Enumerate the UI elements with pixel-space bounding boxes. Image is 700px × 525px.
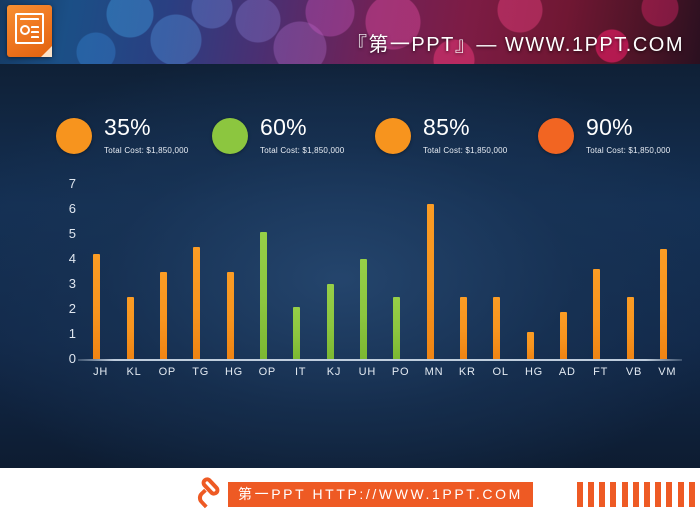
legend-cost: Total Cost: $1,850,000 [586,146,670,155]
y-axis-tick: 5 [58,228,76,240]
y-axis-tick: 7 [58,178,76,190]
footer-stripe [633,482,639,507]
x-axis-label: HG [219,366,249,378]
bar [493,297,500,360]
bar [593,269,600,359]
x-axis-label: IT [286,366,316,378]
legend: 35% Total Cost: $1,850,000 60% Total Cos… [0,114,700,170]
bar [193,247,200,360]
footer-stripe [689,482,695,507]
footer-text: 第一PPT HTTP://WWW.1PPT.COM [228,482,533,507]
x-axis-label: OP [252,366,282,378]
bar [560,312,567,360]
legend-color-dot [212,118,248,154]
x-axis-label: PO [386,366,416,378]
plot-area [80,184,680,359]
footer-stripe [588,482,594,507]
footer-bar: 第一PPT HTTP://WWW.1PPT.COM [0,468,700,525]
x-axis-label: UH [352,366,382,378]
footer-stripes [577,482,700,507]
x-axis-label: KR [452,366,482,378]
x-axis-label: TG [186,366,216,378]
footer-stripe [666,482,672,507]
bar [293,307,300,360]
bar [660,249,667,359]
x-axis-label: AD [552,366,582,378]
bar [460,297,467,360]
footer-stripe [610,482,616,507]
paperclip-icon [196,480,224,508]
legend-cost: Total Cost: $1,850,000 [104,146,188,155]
x-axis-label: KL [119,366,149,378]
x-axis-label: FT [586,366,616,378]
bar [360,259,367,359]
footer-stripe [655,482,661,507]
x-axis-baseline [78,359,682,361]
bar [393,297,400,360]
bar [127,297,134,360]
footer-stripe [599,482,605,507]
bar [427,204,434,359]
legend-color-dot [538,118,574,154]
y-axis-tick: 4 [58,253,76,265]
y-axis-tick: 0 [58,353,76,365]
footer-stripe [622,482,628,507]
x-axis-label: OP [152,366,182,378]
y-axis-tick: 3 [58,278,76,290]
y-axis-tick: 1 [58,328,76,340]
powerpoint-icon [7,5,52,57]
bar [93,254,100,359]
x-axis-label: HG [519,366,549,378]
header-title: 『第一PPT』— WWW.1PPT.COM [347,28,684,57]
bar [627,297,634,360]
powerpoint-icon-document [15,13,44,44]
bar [260,232,267,360]
x-axis-label: MN [419,366,449,378]
y-axis-tick: 6 [58,203,76,215]
x-axis-label: JH [86,366,116,378]
x-axis-labels: JHKLOPTGHGOPITKJUHPOMNKROLHGADFTVBVM [80,366,680,386]
bar-chart: 76543210 JHKLOPTGHGOPITKJUHPOMNKROLHGADF… [0,184,700,414]
legend-cost: Total Cost: $1,850,000 [423,146,507,155]
legend-percent: 85% [423,114,470,140]
legend-cost: Total Cost: $1,850,000 [260,146,344,155]
pie-glyph [20,25,30,35]
legend-percent: 90% [586,114,633,140]
footer-stripe [577,482,583,507]
x-axis-label: VB [619,366,649,378]
header-banner: 『第一PPT』— WWW.1PPT.COM [0,0,700,64]
x-axis-label: KJ [319,366,349,378]
y-axis: 76543210 [58,184,76,359]
y-axis-tick: 2 [58,303,76,315]
bar [327,284,334,359]
footer-stripe [644,482,650,507]
legend-percent: 60% [260,114,307,140]
legend-color-dot [56,118,92,154]
bar [160,272,167,360]
slide: 『第一PPT』— WWW.1PPT.COM 35% Total Cost: $1… [0,0,700,525]
bar [227,272,234,360]
footer-stripe [678,482,684,507]
legend-color-dot [375,118,411,154]
bar [527,332,534,360]
legend-percent: 35% [104,114,151,140]
slide-body: 35% Total Cost: $1,850,000 60% Total Cos… [0,64,700,468]
x-axis-label: VM [652,366,682,378]
x-axis-label: OL [486,366,516,378]
